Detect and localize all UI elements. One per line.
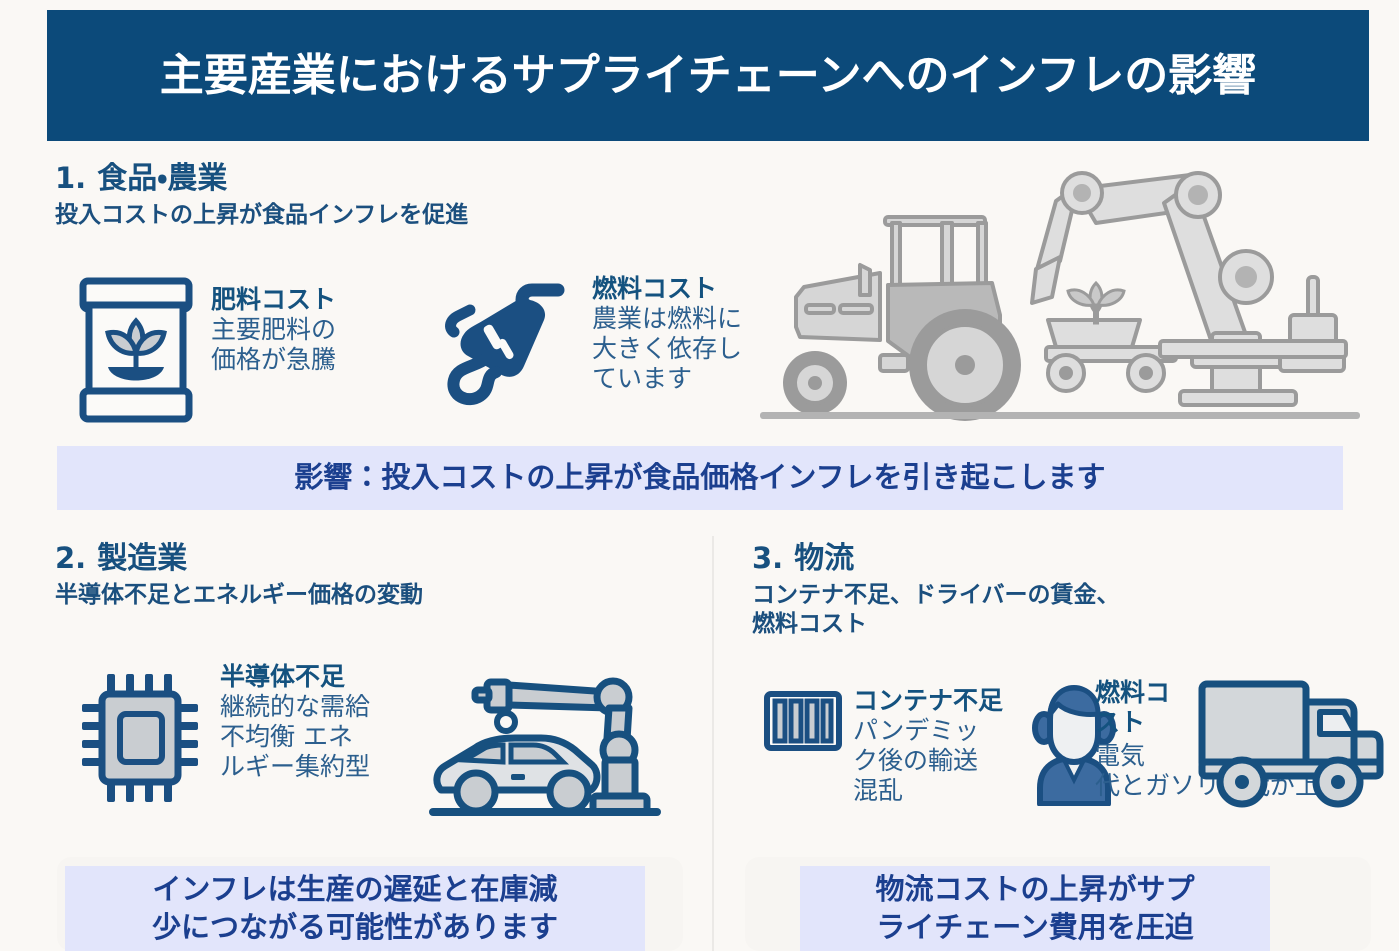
- tractor-and-robotic-arm-illustration: [760, 165, 1380, 423]
- factor-desc: 主要肥料の 価格が急騰: [211, 315, 336, 376]
- factor-desc: パンデミッ ク後の輸送 混乱: [853, 716, 1003, 807]
- factor-title: 半導体不足: [220, 662, 370, 692]
- factor-fertilizer-cost: 肥料コスト 主要肥料の 価格が急騰: [75, 275, 336, 425]
- header-banner: 主要産業におけるサプライチェーンへのインフレの影響: [47, 10, 1369, 141]
- impact-text: 物流コストの上昇がサプ ライチェーン費用を圧迫: [875, 871, 1194, 946]
- impact-text: インフレは生産の遅延と在庫減 少につながる可能性があります: [152, 871, 558, 946]
- shipping-container-icon: [763, 690, 843, 752]
- section-2-number: 2.: [55, 543, 86, 573]
- section-3-title: 物流: [794, 543, 854, 575]
- section-2-heading: 2. 製造業 半導体不足とエネルギー価格の変動: [55, 543, 423, 610]
- section-1-title: 食品・農業: [97, 163, 227, 195]
- section-3-impact-banner: 物流コストの上昇がサプ ライチェーン費用を圧迫: [800, 866, 1270, 951]
- microchip-icon: [78, 668, 206, 808]
- factor-container-shortage: コンテナ不足 パンデミッ ク後の輸送 混乱: [763, 690, 1003, 806]
- delivery-truck-illustration: [1196, 676, 1386, 812]
- factor-title: 肥料コスト: [211, 285, 336, 315]
- fertilizer-bag-icon: [75, 275, 197, 425]
- page-title: 主要産業におけるサプライチェーンへのインフレの影響: [160, 54, 1256, 98]
- section-3-heading: 3. 物流 コンテナ不足、ドライバーの賃金、 燃料コスト: [752, 543, 1120, 639]
- factor-semiconductor-shortage: 半導体不足 継続的な需給 不均衡 エネ ルギー集約型: [78, 668, 370, 808]
- factor-desc: 継続的な需給 不均衡 エネ ルギー集約型: [220, 692, 370, 783]
- section-3-number: 3.: [752, 543, 783, 573]
- car-and-robotic-arm-illustration: [423, 672, 693, 840]
- section-2-impact-banner: インフレは生産の遅延と在庫減 少につながる可能性があります: [65, 866, 645, 951]
- fuel-nozzle-icon: [440, 268, 600, 418]
- section-1-number: 1.: [55, 163, 86, 193]
- impact-text: 影響：投入コストの上昇が食品価格インフレを引き起こします: [294, 459, 1105, 497]
- section-1-heading: 1. 食品・農業 投入コストの上昇が食品インフレを促進: [55, 163, 468, 230]
- section-1-subtitle: 投入コストの上昇が食品インフレを促進: [55, 201, 468, 230]
- section-2-subtitle: 半導体不足とエネルギー価格の変動: [55, 581, 423, 610]
- section-2-title: 製造業: [97, 543, 187, 575]
- factor-desc: 農業は燃料に 大きく依存し ています: [592, 304, 742, 395]
- column-divider: [712, 536, 714, 951]
- factor-fuel-cost: 燃料コスト 農業は燃料に 大きく依存し ています: [440, 268, 742, 418]
- section-3-subtitle: コンテナ不足、ドライバーの賃金、 燃料コスト: [752, 581, 1120, 640]
- factor-title: 燃料コスト: [592, 274, 742, 304]
- section-1-impact-banner: 影響：投入コストの上昇が食品価格インフレを引き起こします: [57, 446, 1343, 510]
- factor-title: コンテナ不足: [853, 686, 1003, 716]
